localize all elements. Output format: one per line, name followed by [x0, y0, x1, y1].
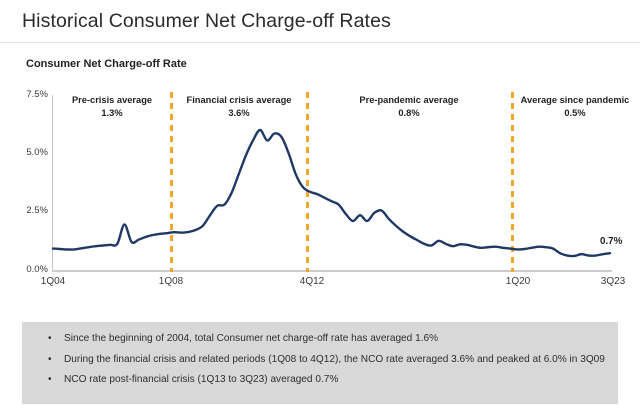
note-item-1: • During the financial crisis and relate… [22, 354, 618, 367]
note-item-2: • NCO rate post-financial crisis (1Q13 t… [22, 374, 618, 387]
note-text-1: During the financial crisis and related … [64, 354, 605, 365]
bullet-icon: • [48, 354, 52, 367]
note-text-0: Since the beginning of 2004, total Consu… [64, 333, 438, 344]
notes-panel: • Since the beginning of 2004, total Con… [22, 322, 618, 404]
note-item-0: • Since the beginning of 2004, total Con… [22, 333, 618, 346]
note-text-2: NCO rate post-financial crisis (1Q13 to … [64, 374, 338, 385]
notes-list: • Since the beginning of 2004, total Con… [22, 322, 618, 387]
series-plot [0, 0, 640, 300]
series-line-consumer-nco [53, 130, 610, 256]
bullet-icon: • [48, 374, 52, 387]
bullet-icon: • [48, 333, 52, 346]
chart-canvas: 7.5% 5.0% 2.5% 0.0% 1Q04 1Q08 4Q12 1Q20 … [0, 0, 640, 300]
